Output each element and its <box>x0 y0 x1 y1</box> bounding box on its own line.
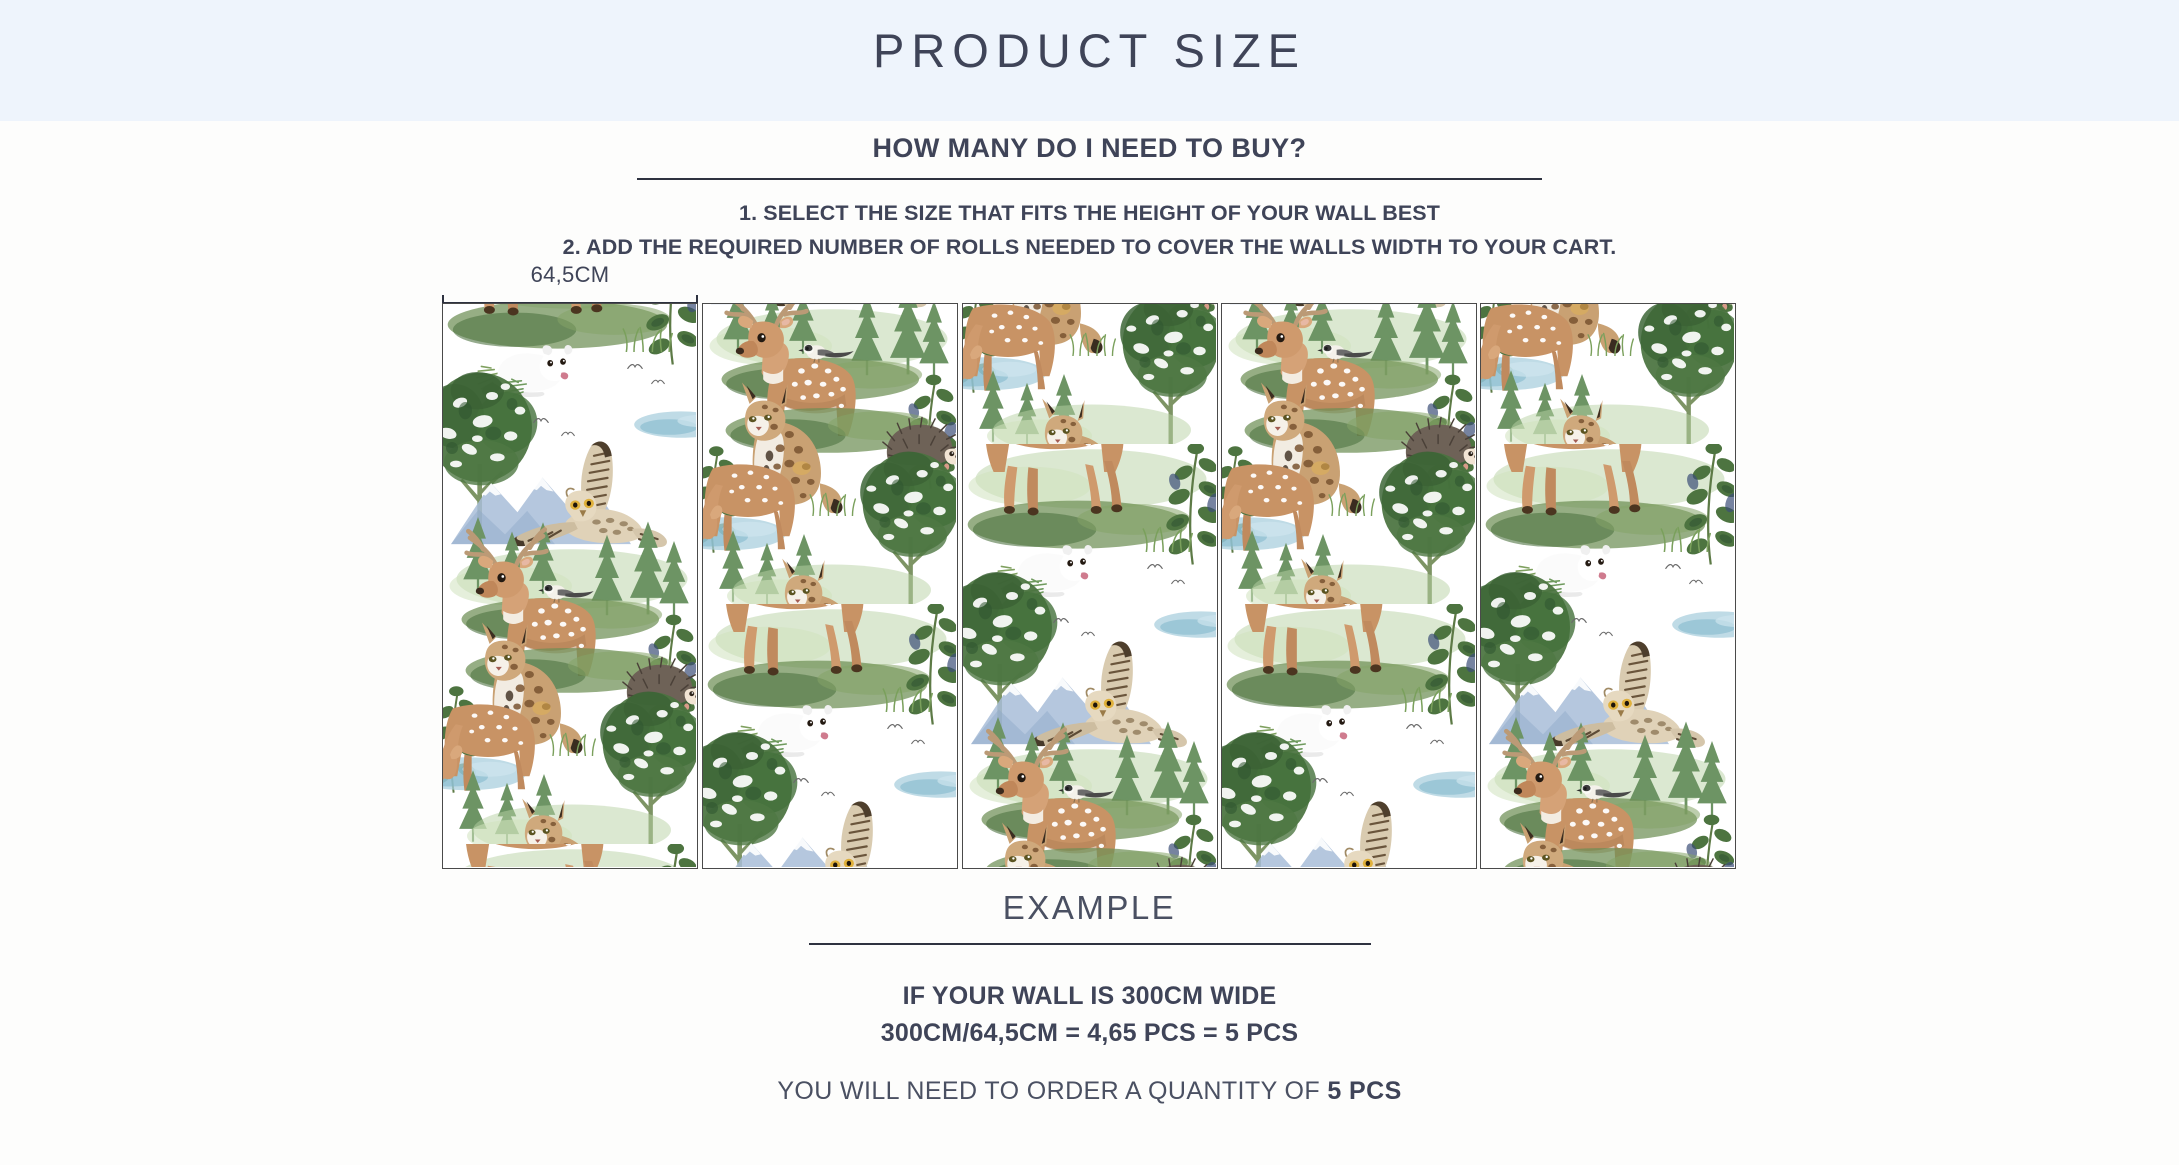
instructions-heading: HOW MANY DO I NEED TO BUY? <box>0 132 2179 164</box>
example-conclusion: YOU WILL NEED TO ORDER A QUANTITY OF 5 P… <box>0 1077 2179 1106</box>
example-calculation: IF YOUR WALL IS 300CM WIDE 300CM/64,5CM … <box>0 978 2179 1051</box>
panel-1-pattern <box>443 304 696 867</box>
example-conclusion-value: 5 PCS <box>1327 1077 1401 1105</box>
example-section: EXAMPLE IF YOUR WALL IS 300CM WIDE 300CM… <box>0 890 2179 1106</box>
instruction-step-2: 2. ADD THE REQUIRED NUMBER OF ROLLS NEED… <box>0 231 2179 264</box>
example-divider <box>809 943 1371 945</box>
wallpaper-panel-4[interactable] <box>1221 303 1477 869</box>
wallpaper-panel-1[interactable] <box>442 303 698 869</box>
wallpaper-panel-2[interactable] <box>702 303 958 869</box>
example-wall-width-line: IF YOUR WALL IS 300CM WIDE <box>0 978 2179 1014</box>
panel-4-pattern <box>1222 304 1475 867</box>
wallpaper-panel-row <box>442 303 1736 869</box>
panel-2-pattern <box>703 304 956 867</box>
panel-3-pattern <box>963 304 1216 867</box>
panel-5-pattern <box>1481 304 1734 867</box>
roll-width-dimension: 64,5CM <box>442 262 698 309</box>
page-title: PRODUCT SIZE <box>0 24 2179 78</box>
instructions-divider <box>637 178 1542 180</box>
instruction-step-list: 1. SELECT THE SIZE THAT FITS THE HEIGHT … <box>0 197 2179 264</box>
instructions-section: HOW MANY DO I NEED TO BUY? 1. SELECT THE… <box>0 132 2179 264</box>
instruction-step-1: 1. SELECT THE SIZE THAT FITS THE HEIGHT … <box>0 197 2179 230</box>
wallpaper-panel-3[interactable] <box>962 303 1218 869</box>
example-conclusion-prefix: YOU WILL NEED TO ORDER A QUANTITY OF <box>777 1077 1327 1105</box>
example-heading: EXAMPLE <box>0 890 2179 926</box>
wallpaper-panel-5[interactable] <box>1480 303 1736 869</box>
example-formula-line: 300CM/64,5CM = 4,65 PCS = 5 PCS <box>0 1015 2179 1051</box>
dimension-label: 64,5CM <box>442 262 698 288</box>
